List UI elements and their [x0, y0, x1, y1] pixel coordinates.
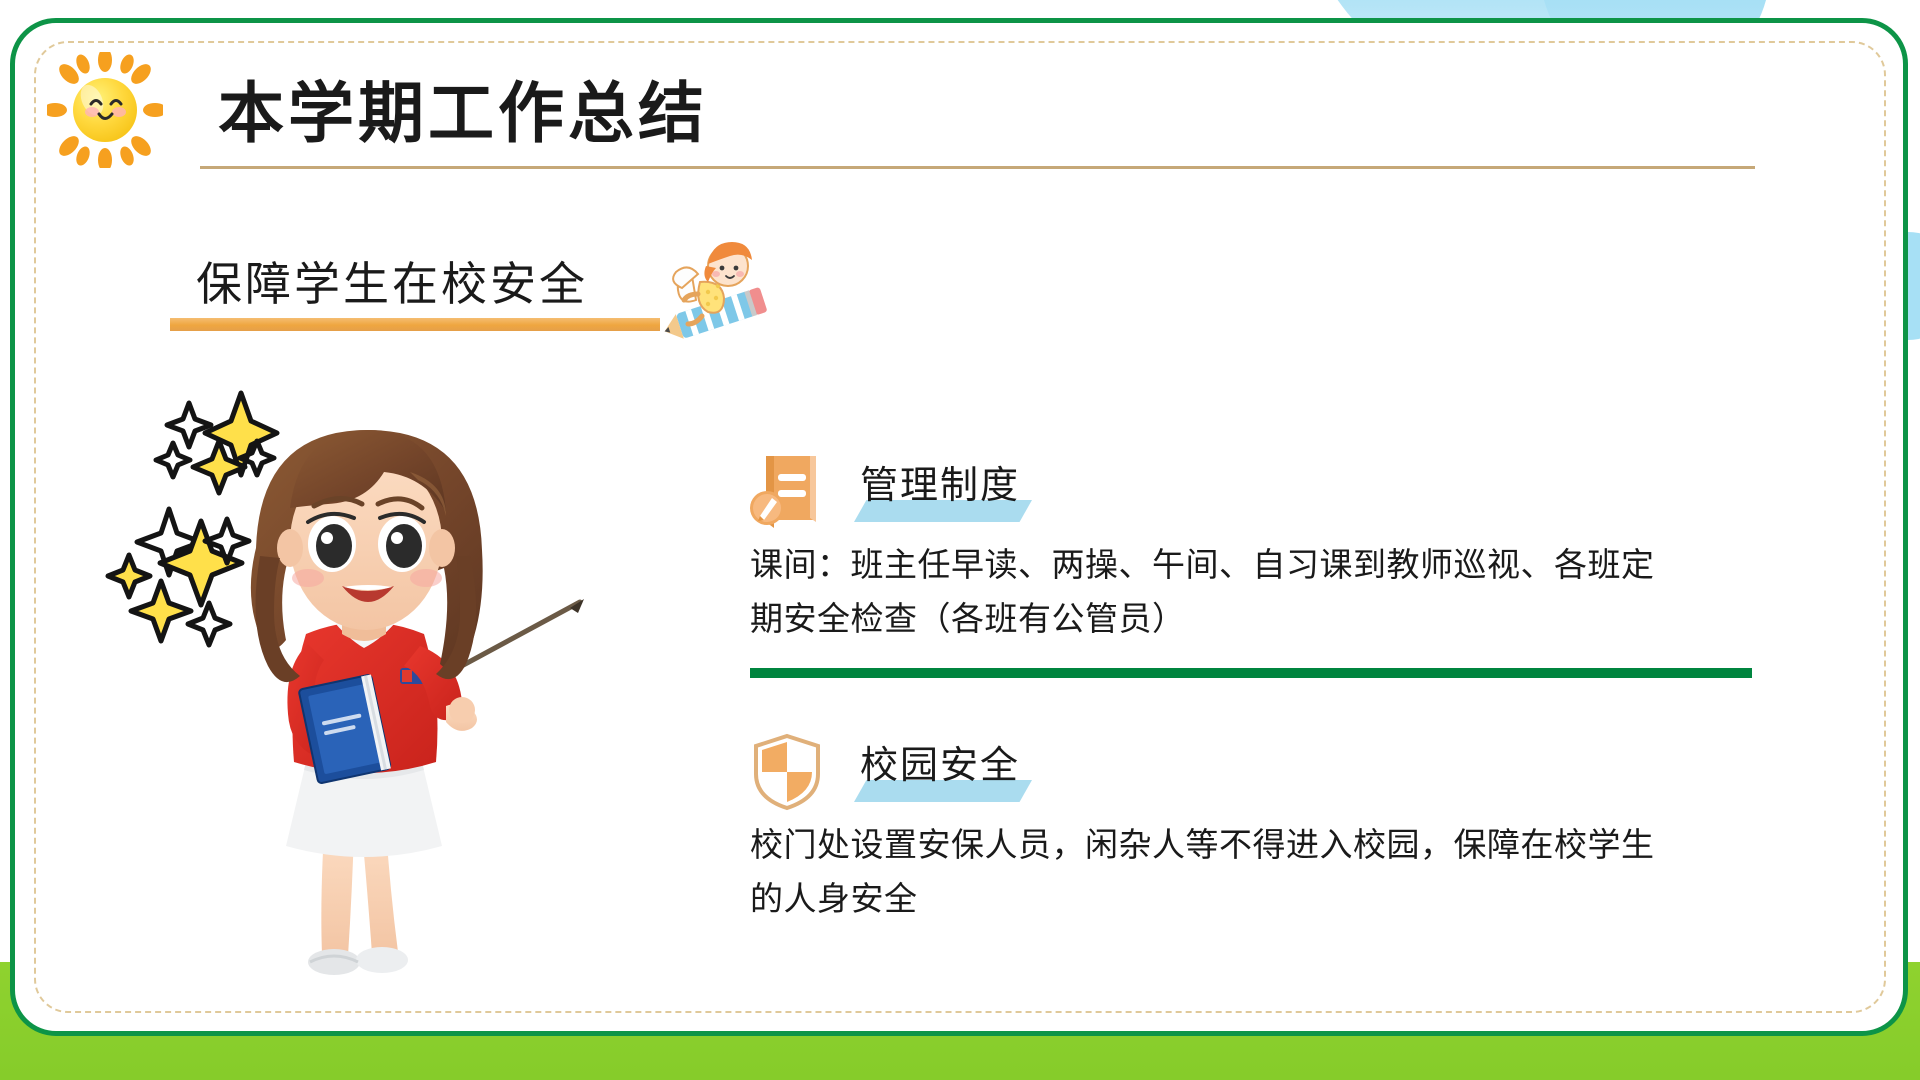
block-title: 校园安全 — [854, 734, 1026, 789]
section-subtitle: 保障学生在校安全 — [196, 248, 588, 314]
fairy-on-pencil-icon — [648, 232, 776, 360]
book-pencil-icon — [750, 452, 824, 532]
block-title-wrap: 校园安全 — [854, 734, 1026, 789]
subtitle-underline-bar — [170, 318, 660, 331]
shield-icon — [750, 732, 824, 812]
block-title: 管理制度 — [854, 454, 1026, 509]
block-title-wrap: 管理制度 — [854, 454, 1026, 509]
teacher-with-pointer-illustration — [110, 380, 630, 980]
title-underline-rule — [200, 166, 1755, 169]
slide-canvas: 本学期工作总结 保障学生在校安全 — [0, 0, 1920, 1080]
page-title: 本学期工作总结 — [218, 60, 708, 156]
block-body-text: 课间：班主任早读、两操、午间、自习课到教师巡视、各班定期安全检查（各班有公管员） — [750, 538, 1660, 646]
block-body-text: 校门处设置安保人员，闲杂人等不得进入校园，保障在校学生的人身安全 — [750, 818, 1660, 926]
section-divider — [750, 668, 1752, 678]
sun-smiling-icon — [47, 52, 163, 168]
